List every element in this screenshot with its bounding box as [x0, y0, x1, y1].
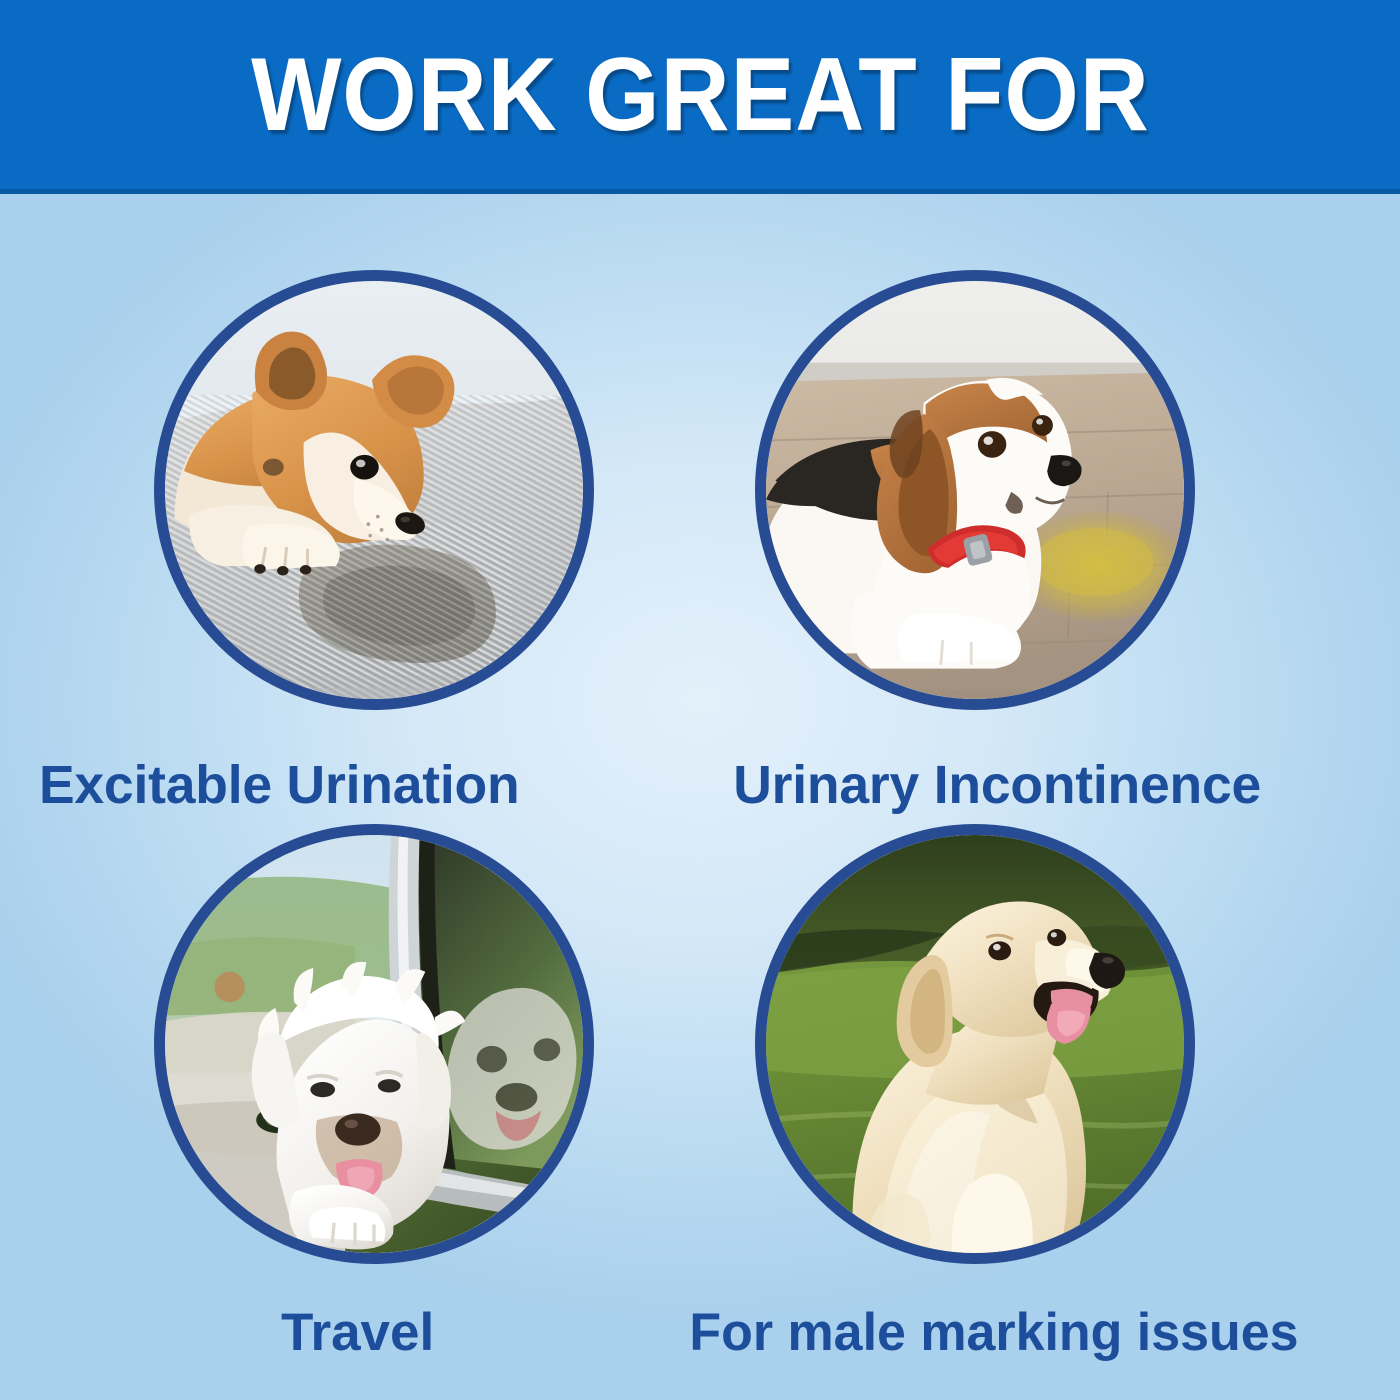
caption-excitable-urination: Excitable Urination [33, 758, 732, 812]
dog-in-car-window-image [165, 835, 583, 1253]
puppy-on-carpet-image [165, 281, 583, 699]
photo-circle-travel [154, 824, 594, 1264]
golden-retriever-image [766, 835, 1184, 1253]
photo-frame-excitable-urination [154, 270, 594, 710]
photo-circle-male-marking-issues [755, 824, 1195, 1264]
caption-male-marking-issues: For male marking issues [660, 1306, 1375, 1359]
photo-circle-excitable-urination [154, 270, 594, 710]
photo-frame-urinary-incontinence [755, 270, 1195, 710]
feature-cell-male-marking-issues: For male marking issues [660, 824, 1360, 1400]
feature-cell-travel: Travel [33, 824, 733, 1400]
header-banner: WORK GREAT FOR [0, 0, 1400, 194]
photo-frame-travel [154, 824, 594, 1264]
feature-grid: Excitable Urination [0, 194, 1400, 1400]
page-title: WORK GREAT FOR [251, 43, 1150, 147]
promo-poster: WORK GREAT FOR [0, 0, 1400, 1400]
feature-cell-excitable-urination: Excitable Urination [33, 270, 733, 860]
caption-urinary-incontinence: Urinary Incontinence [660, 758, 1400, 812]
photo-frame-male-marking-issues [755, 824, 1195, 1264]
beagle-on-floor-image [766, 281, 1184, 699]
photo-circle-urinary-incontinence [755, 270, 1195, 710]
feature-cell-urinary-incontinence: Urinary Incontinence [660, 270, 1360, 860]
